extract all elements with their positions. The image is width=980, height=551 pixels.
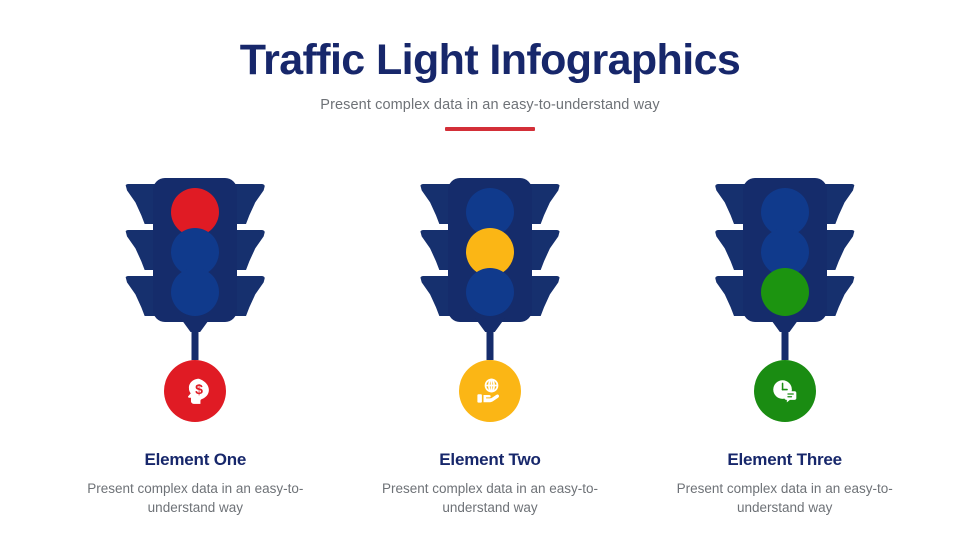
- hand-globe-icon: [474, 375, 506, 407]
- badge-circle-two[interactable]: [459, 360, 521, 422]
- caption-two: Element Two Present complex data in an e…: [360, 450, 620, 517]
- housing-taper: [770, 318, 800, 332]
- element-description: Present complex data in an easy-to-under…: [360, 479, 620, 517]
- traffic-light-housing: [153, 178, 237, 322]
- element-column-three[interactable]: Element Three Present complex data in an…: [637, 178, 932, 517]
- page-title: Traffic Light Infographics: [0, 38, 980, 83]
- slide-header: Traffic Light Infographics Present compl…: [0, 38, 980, 131]
- traffic-light-housing: [448, 178, 532, 322]
- slide-canvas: Traffic Light Infographics Present compl…: [0, 0, 980, 551]
- pole-stem: [781, 330, 788, 360]
- accent-divider: [445, 127, 535, 131]
- element-title: Element Two: [360, 450, 620, 470]
- page-subtitle: Present complex data in an easy-to-under…: [0, 97, 980, 113]
- traffic-light-two: [420, 178, 560, 328]
- housing-taper: [475, 318, 505, 332]
- pole-stem: [192, 330, 199, 360]
- traffic-light-one: [125, 178, 265, 328]
- traffic-light-housing: [743, 178, 827, 322]
- element-description: Present complex data in an easy-to-under…: [655, 479, 915, 517]
- lamp-green: [761, 268, 809, 316]
- element-title: Element Three: [655, 450, 915, 470]
- element-column-one[interactable]: $ Element One Present complex data in an…: [48, 178, 343, 517]
- lamp-green: [171, 268, 219, 316]
- caption-one: Element One Present complex data in an e…: [65, 450, 325, 517]
- lamp-green: [466, 268, 514, 316]
- clock-chat-icon: [769, 376, 800, 407]
- pole-stem: [487, 330, 494, 360]
- caption-three: Element Three Present complex data in an…: [655, 450, 915, 517]
- element-column-two[interactable]: Element Two Present complex data in an e…: [343, 178, 638, 517]
- element-title: Element One: [65, 450, 325, 470]
- badge-circle-three[interactable]: [754, 360, 816, 422]
- element-description: Present complex data in an easy-to-under…: [65, 479, 325, 517]
- traffic-light-three: [715, 178, 855, 328]
- svg-text:$: $: [195, 381, 203, 397]
- housing-taper: [180, 318, 210, 332]
- head-dollar-icon: $: [180, 376, 210, 406]
- element-columns: $ Element One Present complex data in an…: [0, 178, 980, 517]
- badge-circle-one[interactable]: $: [164, 360, 226, 422]
